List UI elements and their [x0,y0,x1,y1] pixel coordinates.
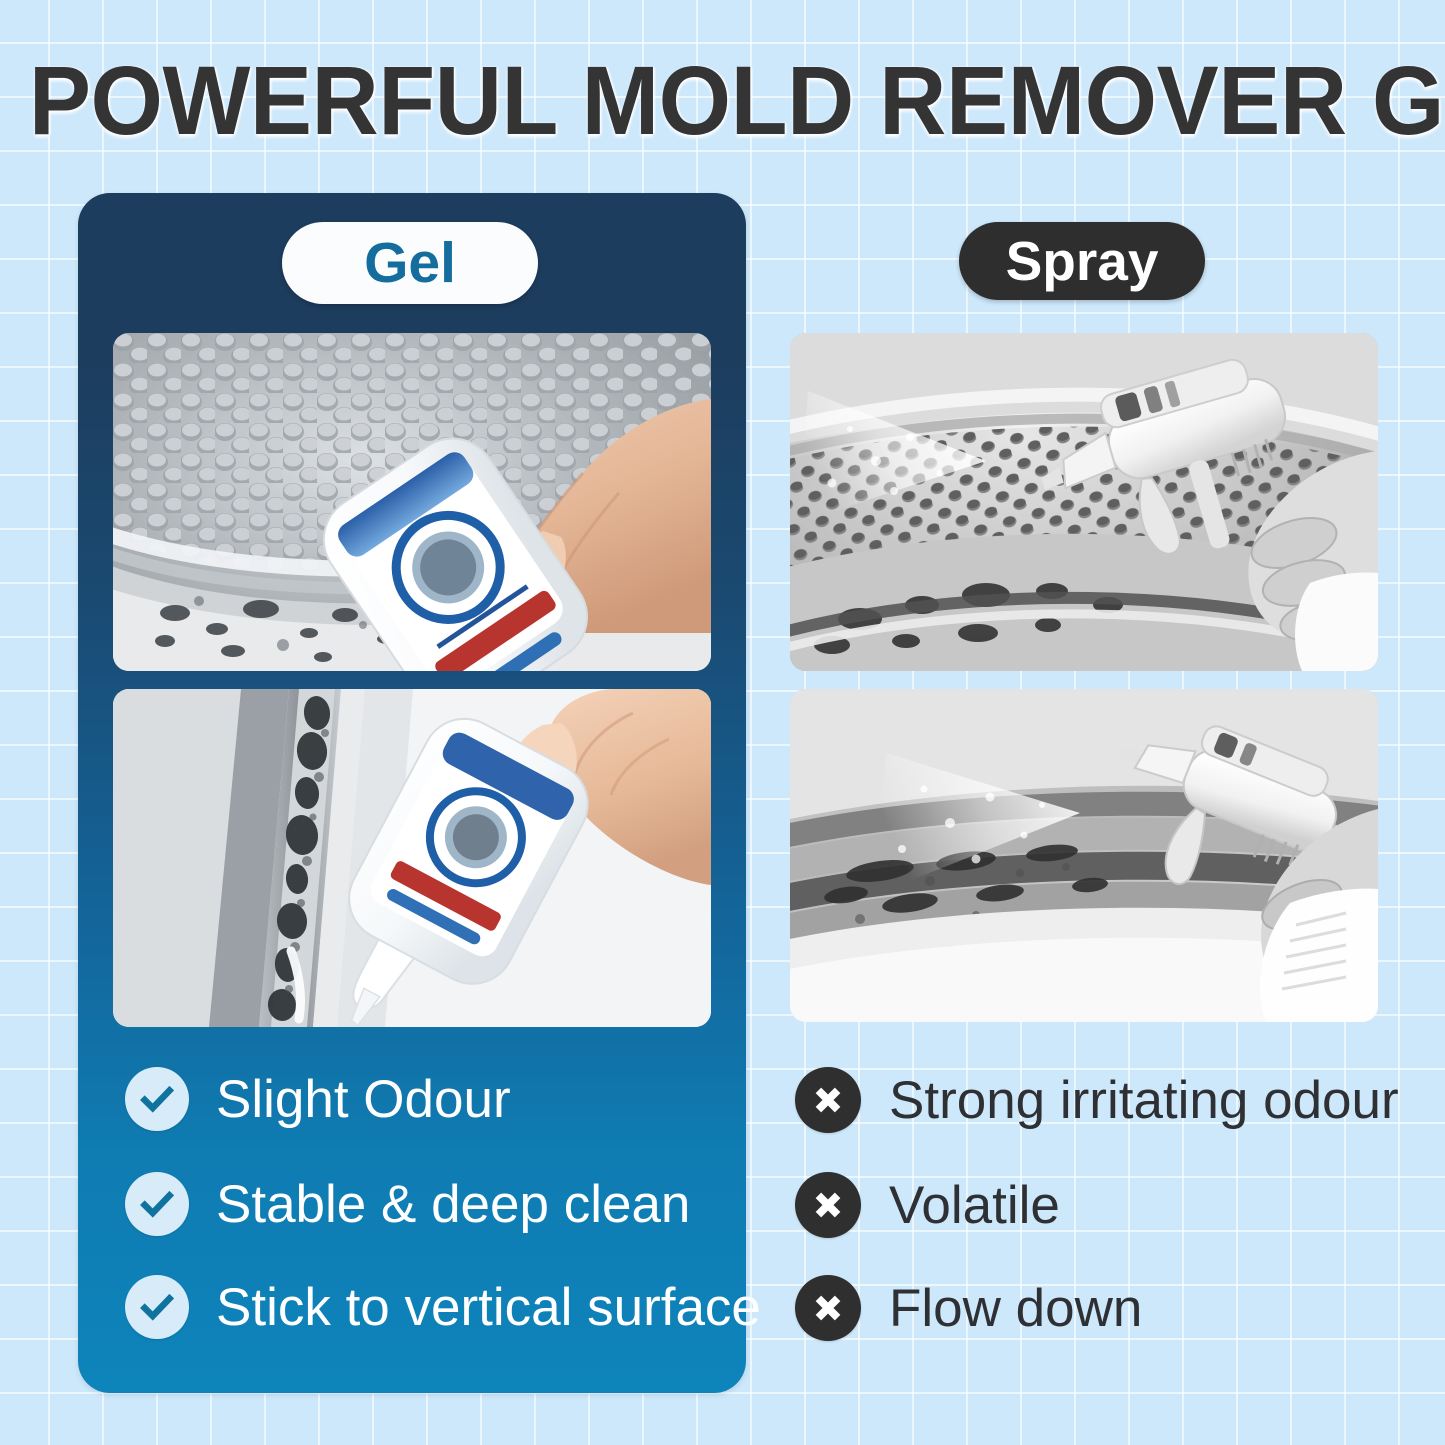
photo-gel-on-seal [113,689,711,1027]
cross-icon [795,1067,861,1133]
feature-label: Strong irritating odour [889,1074,1399,1127]
badge-spray-label: Spray [1006,234,1159,289]
check-icon [125,1275,189,1339]
photo-spray-on-drum [790,333,1378,671]
feature-row-spray-0: Strong irritating odour [795,1067,1399,1133]
page-title: POWERFUL MOLD REMOVER GEL [29,52,1416,149]
feature-label: Stable & deep clean [216,1178,690,1231]
cross-icon [795,1275,861,1341]
feature-label: Stick to vertical surface [216,1281,761,1334]
feature-label: Slight Odour [216,1073,511,1126]
feature-label: Flow down [889,1282,1142,1335]
feature-row-gel-1: Stable & deep clean [125,1172,690,1236]
feature-row-gel-2: Stick to vertical surface [125,1275,761,1339]
feature-row-spray-2: Flow down [795,1275,1142,1341]
feature-row-spray-1: Volatile [795,1172,1060,1238]
photo-gel-on-drum [113,333,711,671]
infographic-canvas: POWERFUL MOLD REMOVER GEL Gel Spray [0,0,1445,1445]
check-icon [125,1067,189,1131]
badge-gel-label: Gel [364,235,456,292]
cross-icon [795,1172,861,1238]
badge-spray[interactable]: Spray [959,222,1205,300]
badge-gel[interactable]: Gel [282,222,538,304]
feature-label: Volatile [889,1179,1060,1232]
photo-spray-on-seal [790,689,1378,1022]
feature-row-gel-0: Slight Odour [125,1067,511,1131]
check-icon [125,1172,189,1236]
